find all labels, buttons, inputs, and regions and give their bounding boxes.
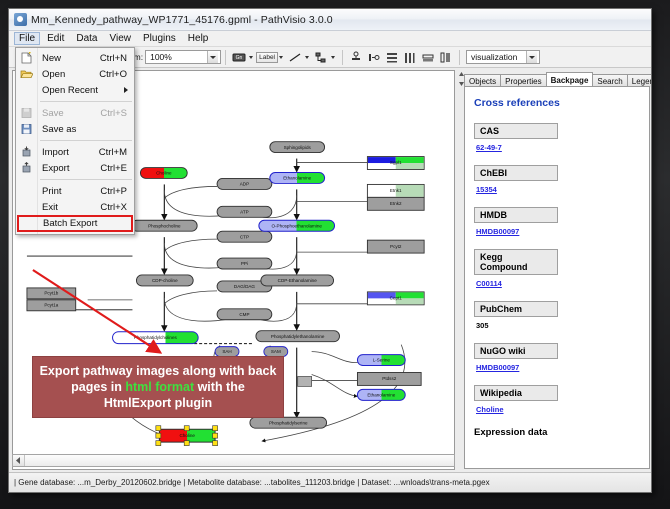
backpage-title: Cross references bbox=[474, 97, 642, 109]
scrollbar-thumb[interactable] bbox=[25, 455, 454, 466]
callout-line-2-a: pages in bbox=[71, 380, 125, 394]
menu-help[interactable]: Help bbox=[183, 32, 214, 45]
svg-text:Phosphatidylethanolamine: Phosphatidylethanolamine bbox=[271, 334, 325, 339]
node-ctp[interactable]: CTP bbox=[217, 231, 272, 242]
menu-item-label: Batch Export bbox=[43, 218, 97, 229]
gene-etnk1[interactable]: Etnk1 bbox=[367, 184, 424, 197]
gene-sgpl1[interactable]: Sgpl1 bbox=[367, 157, 424, 170]
svg-text:Ptdss2: Ptdss2 bbox=[382, 376, 396, 381]
menu-item-exit[interactable]: Exit Ctrl+X bbox=[16, 199, 134, 215]
xref-source-chebi: ChEBI bbox=[474, 165, 558, 181]
visualization-combo[interactable]: visualization bbox=[466, 50, 540, 64]
node-label: Choline bbox=[156, 171, 172, 176]
status-bar: | Gene database: ...m_Derby_20120602.bri… bbox=[9, 472, 651, 492]
xref-source-hmdb: HMDB bbox=[474, 207, 558, 223]
svg-text:CDP-choline: CDP-choline bbox=[152, 278, 178, 283]
menu-item-label: Save bbox=[42, 108, 64, 119]
callout-highlight: html format bbox=[125, 380, 194, 394]
svg-text:CTP: CTP bbox=[240, 234, 249, 239]
scroll-left-icon[interactable] bbox=[13, 455, 25, 466]
svg-text:SAM: SAM bbox=[271, 349, 281, 354]
callout-line-3: HtmlExport plugin bbox=[104, 395, 212, 411]
svg-text:Phosphatidylserine: Phosphatidylserine bbox=[269, 420, 308, 425]
menu-divider bbox=[40, 179, 132, 180]
status-text: | Gene database: ...m_Derby_20120602.bri… bbox=[14, 478, 490, 487]
menu-item-open[interactable]: Open Ctrl+O bbox=[16, 66, 134, 82]
expression-data-heading: Expression data bbox=[474, 427, 642, 438]
menu-item-label: Export bbox=[42, 163, 69, 174]
title-bar: Mm_Kennedy_pathway_WP1771_45176.gpml - P… bbox=[9, 9, 651, 31]
side-panel-tabs[interactable]: Objects Properties Backpage Search Legen… bbox=[464, 72, 650, 87]
chevron-down-icon[interactable] bbox=[526, 51, 537, 63]
node-phosphocholine[interactable]: Phosphocholine bbox=[131, 220, 197, 231]
folder-open-icon bbox=[20, 68, 33, 80]
zoom-combo[interactable]: 100% bbox=[145, 50, 221, 64]
menu-item-accel: Ctrl+S bbox=[100, 108, 134, 119]
svg-text:L-Serine: L-Serine bbox=[373, 358, 391, 363]
new-file-icon bbox=[20, 52, 33, 64]
svg-text:Sgpl1: Sgpl1 bbox=[390, 160, 402, 165]
svg-text:O-Phosphoethanolamine: O-Phosphoethanolamine bbox=[271, 223, 322, 228]
xref-value-wikipedia[interactable]: Choline bbox=[474, 405, 642, 414]
same-height-icon[interactable] bbox=[438, 49, 454, 65]
distribute-horizontal-icon[interactable] bbox=[402, 49, 418, 65]
svg-text:Etnk2: Etnk2 bbox=[390, 201, 402, 206]
svg-text:SAH: SAH bbox=[222, 349, 231, 354]
interaction-icon[interactable] bbox=[313, 49, 329, 65]
pathvisio-window: Mm_Kennedy_pathway_WP1771_45176.gpml - P… bbox=[8, 8, 652, 493]
menu-item-label: Open bbox=[42, 69, 65, 80]
menu-item-label: New bbox=[42, 53, 61, 64]
svg-text:Choline: Choline bbox=[179, 433, 195, 438]
svg-text:Etnk1: Etnk1 bbox=[390, 188, 402, 193]
menu-item-open-recent[interactable]: Open Recent bbox=[16, 82, 134, 98]
svg-text:Pcyt1a: Pcyt1a bbox=[44, 303, 58, 308]
gene-etnk2[interactable]: Etnk2 bbox=[367, 197, 424, 210]
same-width-icon[interactable] bbox=[420, 49, 436, 65]
line-icon[interactable] bbox=[287, 49, 303, 65]
visualization-value: visualization bbox=[471, 52, 517, 62]
node-phosphatidylserine[interactable]: Phosphatidylserine bbox=[250, 417, 327, 428]
xref-source-pubchem: PubChem bbox=[474, 301, 558, 317]
svg-text:PPi: PPi bbox=[241, 261, 248, 266]
menu-item-print[interactable]: Print Ctrl+P bbox=[16, 183, 134, 199]
menu-plugins[interactable]: Plugins bbox=[138, 32, 181, 45]
zoom-value: 100% bbox=[150, 52, 172, 62]
callout-line-1: Export pathway images along with back bbox=[40, 363, 277, 379]
svg-text:Cept1: Cept1 bbox=[390, 296, 403, 301]
chevron-down-icon[interactable] bbox=[207, 51, 218, 63]
gene-pcyt2[interactable]: Pcyt2 bbox=[367, 240, 424, 253]
svg-text:Ethanolamine: Ethanolamine bbox=[283, 176, 311, 181]
node-sphingolipids[interactable]: Sphingolipids bbox=[270, 142, 325, 153]
menu-item-save-as[interactable]: Save as bbox=[16, 121, 134, 137]
node-l-serine[interactable]: L-Serine bbox=[357, 355, 405, 366]
menu-edit[interactable]: Edit bbox=[42, 32, 69, 45]
import-icon bbox=[20, 146, 33, 158]
xref-source-kegg: Kegg Compound bbox=[474, 249, 558, 275]
menu-view[interactable]: View bbox=[104, 32, 136, 45]
menu-item-batch-export[interactable]: Batch Export bbox=[17, 215, 133, 232]
line-dropdown-icon[interactable] bbox=[305, 56, 309, 59]
menu-file[interactable]: File bbox=[14, 32, 40, 45]
menu-item-accel: Ctrl+M bbox=[99, 147, 134, 158]
xref-value-kegg[interactable]: C00114 bbox=[474, 279, 642, 288]
svg-text:CMP: CMP bbox=[239, 312, 249, 317]
side-panel: Objects Properties Backpage Search Legen… bbox=[459, 70, 650, 470]
svg-text:DAG/DAG: DAG/DAG bbox=[234, 284, 255, 289]
node-phosphatidylethanolamine[interactable]: Phosphatidylethanolamine bbox=[256, 331, 340, 342]
tab-backpage[interactable]: Backpage bbox=[546, 72, 594, 87]
node-ppi[interactable]: PPi bbox=[217, 258, 272, 269]
distribute-vertical-icon[interactable] bbox=[384, 49, 400, 65]
svg-text:CDP-Ethanolamine: CDP-Ethanolamine bbox=[278, 278, 318, 283]
node-phosphatidylcholines[interactable]: Phosphatidylcholines bbox=[113, 332, 199, 344]
gene-ptdss2[interactable]: Ptdss2 bbox=[357, 372, 421, 385]
menu-bar[interactable]: File Edit Data View Plugins Help bbox=[9, 31, 651, 47]
interaction-dropdown-icon[interactable] bbox=[331, 56, 335, 59]
export-icon bbox=[20, 162, 33, 174]
menu-item-label: Import bbox=[42, 147, 69, 158]
gene-pcyt1a[interactable]: Pcyt1a bbox=[27, 300, 76, 311]
svg-text:Pcyt2: Pcyt2 bbox=[390, 244, 402, 249]
menu-item-export[interactable]: Export Ctrl+E bbox=[16, 160, 134, 176]
node-atp[interactable]: ATP bbox=[217, 206, 272, 217]
node-cdp-ethanolamine[interactable]: CDP-Ethanolamine bbox=[261, 275, 334, 286]
menu-divider bbox=[40, 140, 132, 141]
label-button[interactable]: Label bbox=[256, 52, 278, 63]
svg-text:Pcyt1b: Pcyt1b bbox=[44, 291, 58, 296]
menu-item-accel: Ctrl+N bbox=[100, 53, 134, 64]
align-left-icon[interactable] bbox=[366, 49, 382, 65]
gene-cept1[interactable]: Cept1 bbox=[367, 292, 424, 305]
svg-text:Phosphocholine: Phosphocholine bbox=[148, 223, 181, 228]
node-ethanolamine-2[interactable]: Ethanolamine bbox=[357, 389, 405, 400]
xref-source-cas: CAS bbox=[474, 123, 558, 139]
node-choline[interactable]: Choline bbox=[140, 168, 187, 179]
xref-value-cas[interactable]: 62-49-7 bbox=[474, 143, 642, 152]
xref-value-nugo[interactable]: HMDB00097 bbox=[474, 363, 642, 372]
datanode-icon[interactable]: Gn bbox=[231, 49, 247, 65]
xref-value-pubchem: 305 bbox=[474, 321, 642, 330]
desktop-backdrop: Mm_Kennedy_pathway_WP1771_45176.gpml - P… bbox=[0, 0, 670, 509]
window-title: Mm_Kennedy_pathway_WP1771_45176.gpml - P… bbox=[31, 14, 333, 26]
menu-item-label: Save as bbox=[42, 124, 76, 135]
xref-value-hmdb[interactable]: HMDB00097 bbox=[474, 227, 642, 236]
callout-line-2: pages in html format with the bbox=[71, 379, 245, 395]
menu-item-accel: Ctrl+E bbox=[100, 163, 134, 174]
menu-item-accel: Ctrl+P bbox=[100, 186, 134, 197]
pathvisio-icon bbox=[14, 13, 27, 26]
menu-item-save: Save Ctrl+S bbox=[16, 105, 134, 121]
node-ethanolamine[interactable]: Ethanolamine bbox=[270, 172, 325, 183]
menu-item-label: Exit bbox=[42, 202, 58, 213]
align-top-icon[interactable] bbox=[348, 49, 364, 65]
menu-item-label: Print bbox=[42, 186, 62, 197]
node-cdp-choline[interactable]: CDP-choline bbox=[136, 275, 193, 286]
label-dropdown-icon[interactable] bbox=[279, 56, 283, 59]
menu-item-import[interactable]: Import Ctrl+M bbox=[16, 144, 134, 160]
backpage-panel[interactable]: Cross references CAS 62-49-7 ChEBI 15354… bbox=[464, 86, 650, 469]
menu-item-label: Open Recent bbox=[42, 85, 98, 96]
svg-text:Ethanolamine: Ethanolamine bbox=[367, 393, 395, 398]
xref-source-nugo: NuGO wiki bbox=[474, 343, 558, 359]
save-as-icon bbox=[20, 123, 33, 135]
datanode-dropdown-icon[interactable] bbox=[249, 56, 253, 59]
annotation-callout: Export pathway images along with back pa… bbox=[32, 356, 284, 418]
svg-text:ATP: ATP bbox=[240, 209, 249, 214]
menu-divider bbox=[40, 101, 132, 102]
svg-text:Phosphatidylcholines: Phosphatidylcholines bbox=[134, 335, 178, 340]
canvas-horizontal-scrollbar[interactable] bbox=[12, 454, 455, 467]
menu-item-new[interactable]: New Ctrl+N bbox=[16, 50, 134, 66]
xref-source-wikipedia: Wikipedia bbox=[474, 385, 558, 401]
menu-data[interactable]: Data bbox=[71, 32, 102, 45]
node-choline-selected[interactable]: Choline bbox=[156, 426, 218, 446]
node-adp[interactable]: ADP bbox=[217, 178, 272, 189]
xref-value-chebi[interactable]: 15354 bbox=[474, 185, 642, 194]
callout-line-2-b: with the bbox=[194, 380, 245, 394]
svg-text:ADP: ADP bbox=[240, 182, 249, 187]
file-dropdown-menu[interactable]: New Ctrl+N Open Ctrl+O Open Recent Save bbox=[15, 47, 135, 235]
submenu-arrow-icon bbox=[124, 87, 128, 93]
save-icon bbox=[20, 107, 33, 119]
svg-text:Gn: Gn bbox=[236, 55, 243, 61]
menu-item-accel: Ctrl+O bbox=[99, 69, 134, 80]
node-cmp[interactable]: CMP bbox=[217, 309, 272, 320]
gene-pcyt1b[interactable]: Pcyt1b bbox=[27, 288, 76, 299]
menu-item-accel: Ctrl+X bbox=[100, 202, 134, 213]
svg-text:Sphingolipids: Sphingolipids bbox=[284, 145, 312, 150]
node-o-phosphoethanolamine[interactable]: O-Phosphoethanolamine bbox=[259, 220, 335, 231]
